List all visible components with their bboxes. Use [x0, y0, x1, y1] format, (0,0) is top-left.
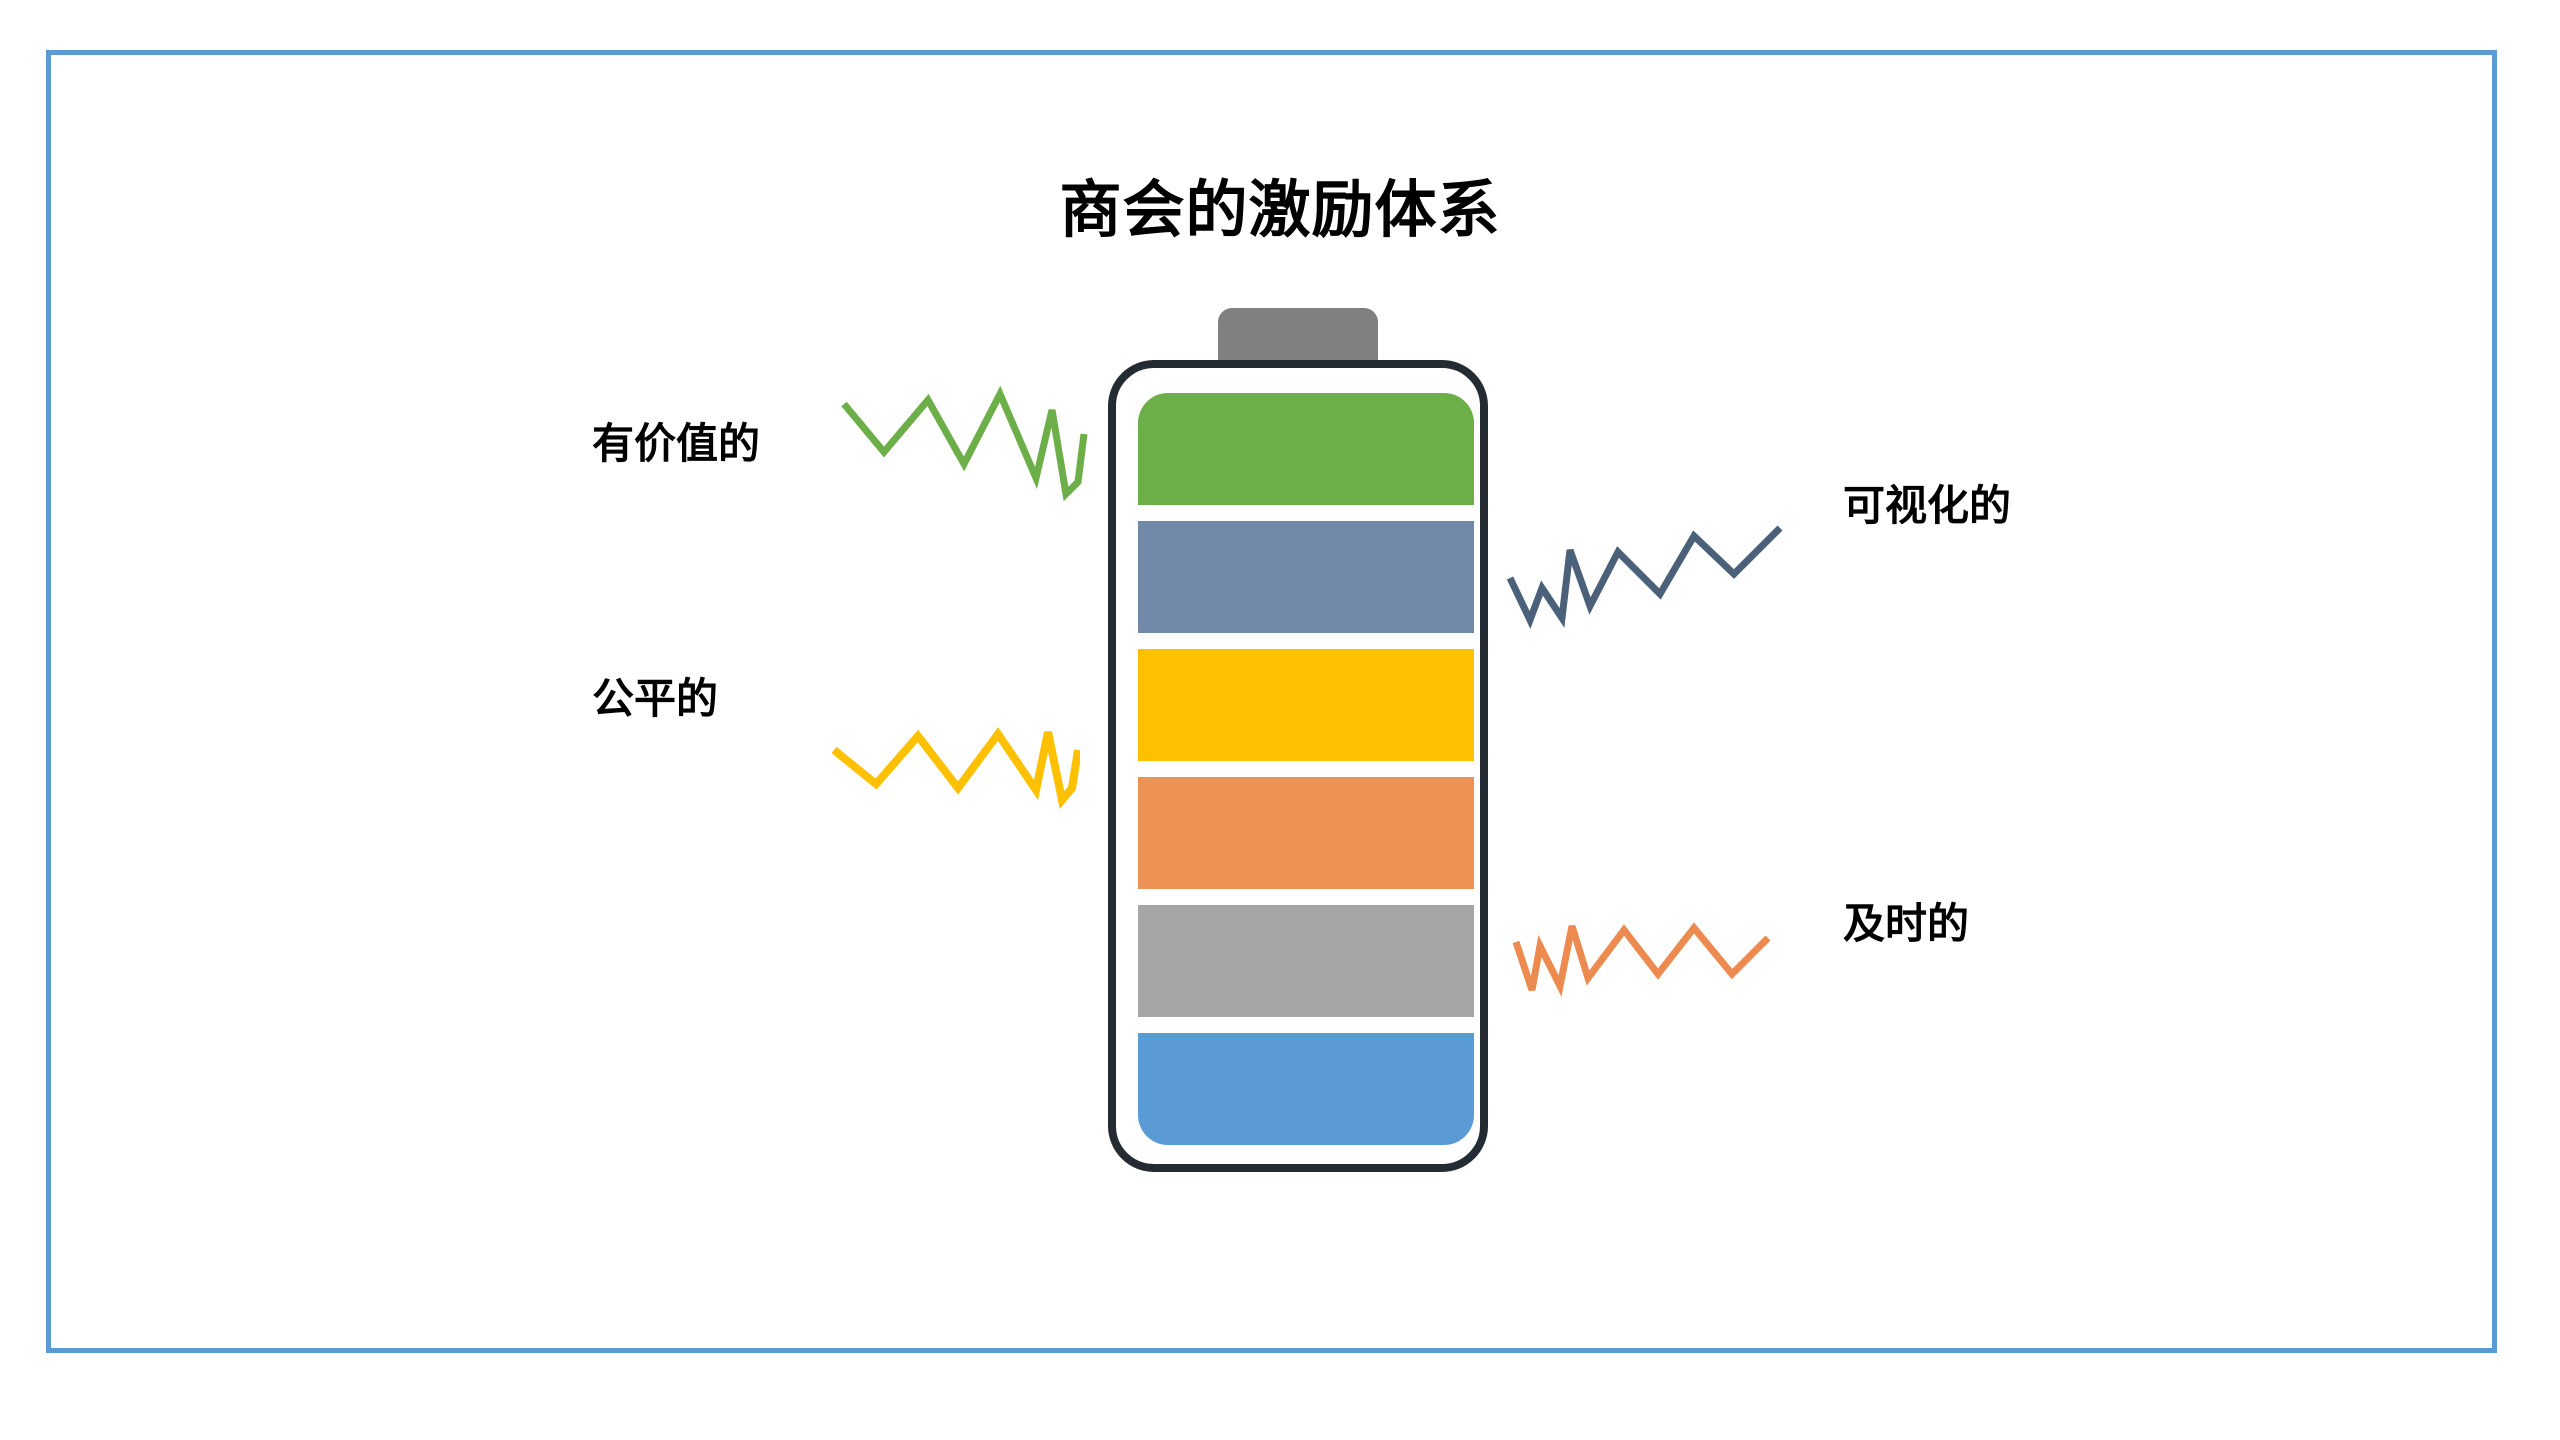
label-valuable: 有价值的	[592, 423, 760, 465]
battery-segment-blue	[1138, 1033, 1474, 1145]
battery-segment-yellow	[1138, 649, 1474, 761]
connector-zigzag-timely	[1512, 900, 1802, 1010]
battery-diagram	[1108, 308, 1492, 1178]
connector-zigzag-visible	[1504, 510, 1804, 630]
label-visible: 可视化的	[1843, 485, 2011, 527]
battery-segment-blue-gray	[1138, 521, 1474, 633]
battery-body	[1108, 360, 1488, 1172]
connector-zigzag-valuable	[840, 382, 1090, 512]
battery-segment-orange	[1138, 777, 1474, 889]
connector-zigzag-fair	[830, 722, 1080, 842]
label-fair: 公平的	[592, 678, 718, 720]
label-timely: 及时的	[1843, 903, 1969, 945]
battery-cap	[1218, 308, 1378, 364]
page-title: 商会的激励体系	[0, 180, 2560, 242]
battery-segment-green	[1138, 393, 1474, 505]
battery-segment-gray	[1138, 905, 1474, 1017]
